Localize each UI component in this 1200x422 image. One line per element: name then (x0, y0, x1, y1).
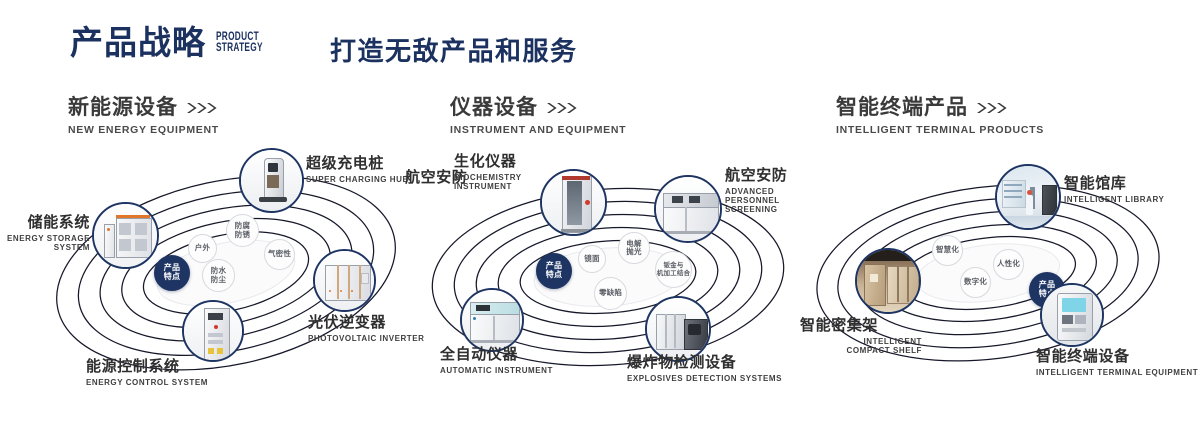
page-title: 产品战略 (70, 26, 206, 59)
section-header-instrument: 仪器设备 INSTRUMENT AND EQUIPMENT (450, 96, 626, 136)
node-photo-explosives-detector[interactable] (645, 296, 711, 362)
node-label-charging-pile: 超级充电桩 SUPER CHARGING HUB (306, 156, 409, 185)
section-header-intelligent-terminal: 智能终端产品 INTELLIGENT TERMINAL PRODUCTS (836, 96, 1044, 136)
node-photo-personnel-screening[interactable] (654, 175, 722, 243)
feature-bubble: 智慧化 (932, 235, 963, 266)
feature-bubble: 人性化 (993, 249, 1024, 280)
node-photo-automatic-instrument[interactable] (460, 288, 524, 352)
infographic-canvas: 产品战略 PRODUCT STRATEGY 打造无敌产品和服务 新能源设备 NE… (0, 0, 1200, 422)
node-label-pv-inverter: 光伏逆变器 PHOTOVOLTAIC INVERTER (308, 315, 424, 344)
feature-bubble: 电解抛光 (618, 232, 650, 264)
section-title-new-energy: 新能源设备 (68, 96, 178, 119)
feature-bubble: 镜面 (578, 245, 606, 273)
node-photo-biochemistry-instrument[interactable] (540, 169, 607, 236)
section-title-instrument: 仪器设备 (450, 96, 538, 119)
section-subtitle-instrument: INSTRUMENT AND EQUIPMENT (450, 124, 626, 136)
section-title-intelligent-terminal: 智能终端产品 (836, 96, 968, 119)
chevron-right-icon (977, 102, 1011, 114)
node-label-energy-storage: 储能系统 ENERGY STORAGE SYSTEM (6, 215, 90, 253)
node-label-biochemistry-instrument: 生化仪器 BIOCHEMISTRY INSTRUMENT (454, 154, 534, 192)
node-label-personnel-screening: 航空安防 ADVANCED PERSONNEL SCREENING (725, 168, 807, 215)
feature-bubble: 钣金与机加工结合 (655, 251, 692, 288)
feature-bubble: 数字化 (960, 267, 991, 298)
node-label-explosives-detector: 爆炸物检测设备 EXPLOSIVES DETECTION SYSTEMS (627, 355, 782, 384)
node-label-control-system: 能源控制系统 ENERGY CONTROL SYSTEM (86, 359, 208, 388)
section-subtitle-intelligent-terminal: INTELLIGENT TERMINAL PRODUCTS (836, 124, 1044, 136)
feature-bubble: 防腐防锈 (226, 214, 259, 247)
node-label-automatic-instrument: 全自动仪器 AUTOMATIC INSTRUMENT (440, 347, 553, 376)
page-title-english: PRODUCT STRATEGY (216, 32, 263, 59)
node-photo-terminal-equipment[interactable] (1040, 283, 1104, 347)
node-photo-charging-pile[interactable] (239, 148, 304, 213)
cluster-intelligent-terminal: 智慧化 人性化 数字化 产品特点 智能馆库 (800, 155, 1200, 405)
feature-bubble: 防水防尘 (202, 259, 235, 292)
section-subtitle-new-energy: NEW ENERGY EQUIPMENT (68, 124, 221, 136)
page-title-english-line2: STRATEGY (216, 43, 263, 54)
node-photo-compact-shelf[interactable] (855, 248, 921, 314)
node-photo-intelligent-library[interactable] (995, 164, 1061, 230)
page-subtitle: 打造无敌产品和服务 (330, 38, 578, 64)
feature-bubble: 气密性 (264, 239, 295, 270)
chevron-right-icon (547, 102, 581, 114)
node-label-compact-shelf: 智能密集架 INTELLIGENT COMPACT SHELF (800, 318, 922, 356)
node-photo-energy-storage[interactable] (92, 202, 159, 269)
node-label-terminal-equipment: 智能终端设备 INTELLIGENT TERMINAL EQUIPMENT (1036, 349, 1198, 378)
node-label-intelligent-library: 智能馆库 INTELLIGENT LIBRARY (1064, 176, 1164, 205)
chevron-right-icon (187, 102, 221, 114)
node-photo-pv-inverter[interactable] (313, 249, 376, 312)
cluster-instrument: 航空安防 产品特点 镜面 电解抛光 钣金与机加工结合 零缺陷 (412, 155, 812, 405)
page-title-group: 产品战略 PRODUCT STRATEGY (70, 26, 281, 59)
cluster-new-energy: 产品特点 户外 防腐防锈 防水防尘 气密性 (30, 155, 430, 405)
section-header-new-energy: 新能源设备 NEW ENERGY EQUIPMENT (68, 96, 221, 136)
feature-bubble: 零缺陷 (594, 277, 627, 310)
node-photo-control-system[interactable] (182, 300, 244, 362)
center-bubble-product-feature: 产品特点 (536, 253, 572, 289)
center-bubble-product-feature: 产品特点 (154, 255, 190, 291)
feature-bubble: 户外 (188, 234, 217, 263)
